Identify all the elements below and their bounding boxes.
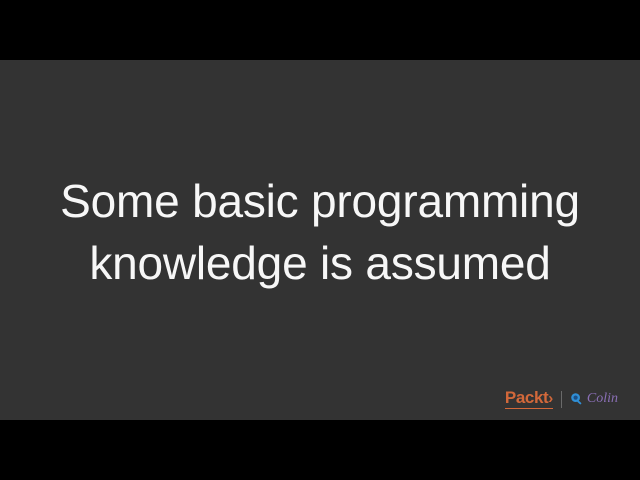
magnifier-circle-icon — [570, 392, 584, 406]
logo-divider — [561, 391, 562, 408]
packt-chevron-right-icon: › — [548, 391, 553, 406]
slide-canvas: Some basic programming knowledge is assu… — [0, 60, 640, 420]
branding-logo-strip: Packt › Colin — [505, 388, 618, 410]
packt-logo: Packt › — [505, 389, 553, 409]
headline-line-2: knowledge is assumed — [16, 232, 624, 294]
packt-wordmark: Packt — [505, 389, 548, 406]
video-slide-frame: Some basic programming knowledge is assu… — [0, 0, 640, 480]
letterbox-bar-bottom — [0, 420, 640, 480]
partner-wordmark: Colin — [587, 392, 618, 406]
partner-logo: Colin — [570, 392, 618, 406]
slide-headline: Some basic programming knowledge is assu… — [0, 170, 640, 294]
headline-line-1: Some basic programming — [16, 170, 624, 232]
letterbox-bar-top — [0, 0, 640, 60]
